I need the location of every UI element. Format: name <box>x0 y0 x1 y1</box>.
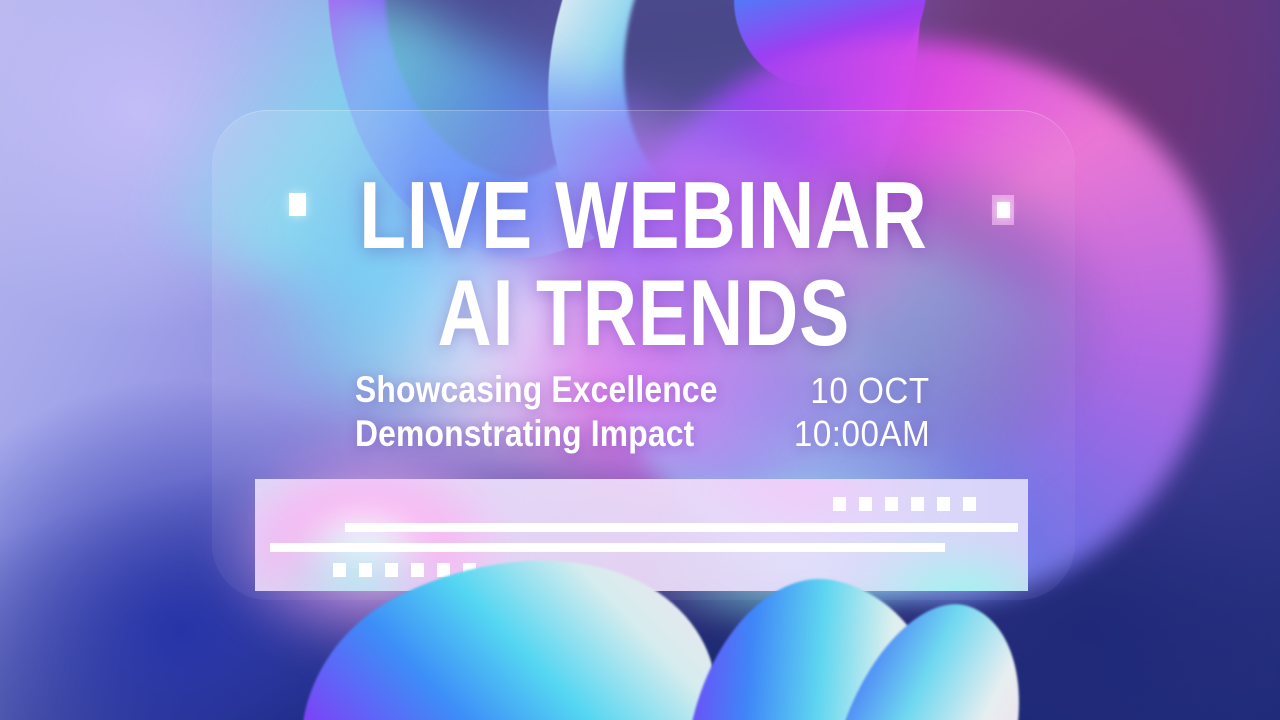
panel-glow-magenta-top <box>675 479 935 549</box>
dot-square <box>833 497 846 511</box>
dot-square <box>385 563 398 577</box>
ribbon-bottom-right <box>794 580 1056 720</box>
info-row: Showcasing Excellence Demonstrating Impa… <box>355 368 930 455</box>
dot-square <box>859 497 872 511</box>
dot-square <box>411 563 424 577</box>
dot-square <box>911 497 924 511</box>
decorative-panel <box>255 479 1028 591</box>
ribbon-blob-top-right <box>717 0 953 107</box>
dot-row-bottom-left <box>333 563 476 577</box>
event-time: 10:00AM <box>794 412 930 455</box>
dot-square <box>885 497 898 511</box>
dot-square <box>333 563 346 577</box>
title-block: LIVE WEBINAR AI TRENDS <box>288 172 999 357</box>
subtitle-line-2: Demonstrating Impact <box>355 412 718 456</box>
event-date: 10 OCT <box>811 369 930 412</box>
poster-canvas: LIVE WEBINAR AI TRENDS Showcasing Excell… <box>0 0 1280 720</box>
dot-row-top-right <box>833 497 976 511</box>
dot-square <box>937 497 950 511</box>
dot-square <box>359 563 372 577</box>
schedule-block: 10 OCT 10:00AM <box>782 368 930 455</box>
accent-bar-top <box>345 523 1018 532</box>
dot-square <box>437 563 450 577</box>
dot-square <box>963 497 976 511</box>
dot-square <box>463 563 476 577</box>
headline-line-2: AI TRENDS <box>437 270 849 356</box>
headline-row: LIVE WEBINAR AI TRENDS <box>212 172 1075 357</box>
subtitle-line-1: Showcasing Excellence <box>355 368 718 412</box>
accent-bar-bottom <box>270 543 945 552</box>
headline-line-1: LIVE WEBINAR <box>359 172 928 260</box>
subtitle-block: Showcasing Excellence Demonstrating Impa… <box>355 368 777 455</box>
